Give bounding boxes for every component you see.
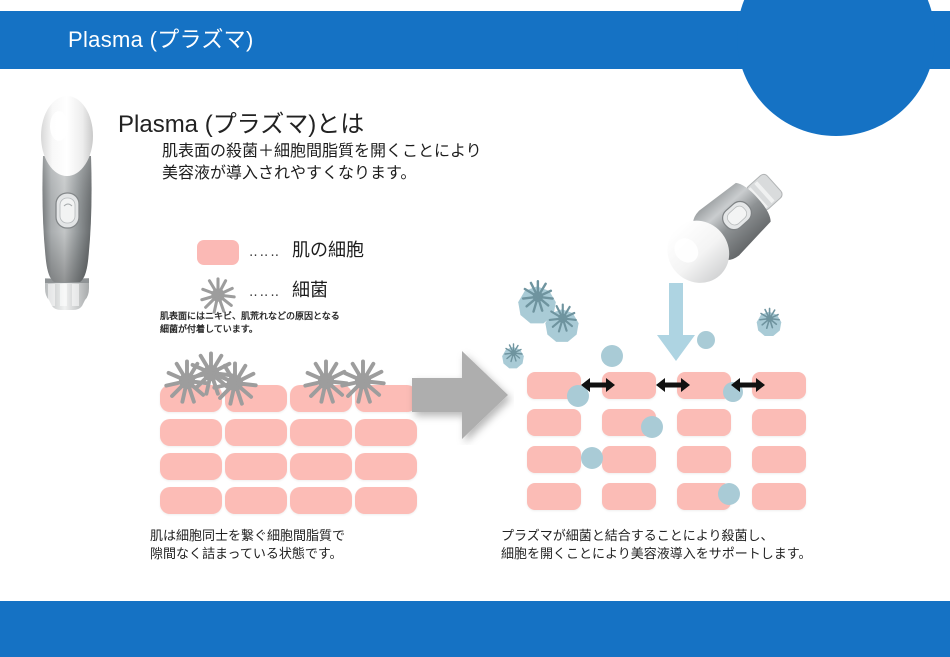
skin-cell <box>527 446 581 473</box>
skin-cell <box>290 453 352 480</box>
skin-cell <box>677 446 731 473</box>
plasma-bound-bacteria-icon <box>498 341 528 371</box>
legend-label-bacteria: 細菌 <box>292 276 328 302</box>
bacteria-star-icon <box>199 276 237 314</box>
plasma-particle <box>601 345 623 367</box>
skin-cell <box>752 483 806 510</box>
header-watermark-text <box>830 58 945 70</box>
skin-cell <box>225 487 287 514</box>
plasma-device-tilted <box>648 158 808 293</box>
cell-gap-double-arrow-icon <box>656 377 690 393</box>
plasma-particle <box>581 447 603 469</box>
slide-canvas: Plasma (プラズマ) <box>0 0 950 657</box>
cell-gap-double-arrow-icon <box>731 377 765 393</box>
skin-cell <box>225 419 287 446</box>
plasma-emission-arrow-icon <box>655 283 697 363</box>
plasma-particle <box>718 483 740 505</box>
legend-dots: ‥‥‥ <box>249 284 281 300</box>
plasma-particle <box>697 331 715 349</box>
skin-cell <box>527 483 581 510</box>
lead-paragraph: 肌表面の殺菌＋細胞間脂質を開くことにより 美容液が導入されやすくなります。 <box>162 141 482 185</box>
caption-right-text: プラズマが細菌と結合することにより殺菌し、 細胞を開くことにより美容液導入をサポ… <box>501 527 811 564</box>
skin-cell <box>160 487 222 514</box>
skin-cell <box>160 419 222 446</box>
bacteria-star-icon <box>212 360 258 406</box>
skin-cell <box>602 446 656 473</box>
plasma-bound-bacteria-icon <box>539 300 585 346</box>
skin-cell <box>290 487 352 514</box>
skin-cell <box>355 453 417 480</box>
page-title: Plasma (プラズマ) <box>68 22 254 54</box>
bacteria-note-text: 肌表面にはニキビ、肌荒れなどの原因となる 細菌が付着しています。 <box>160 310 340 336</box>
skin-cell <box>677 409 731 436</box>
skin-cell <box>602 483 656 510</box>
skin-cell <box>527 409 581 436</box>
caption-left-text: 肌は細胞同士を繋ぐ細胞間脂質で 隙間なく詰まっている状態です。 <box>150 527 345 564</box>
plasma-bound-bacteria-icon <box>752 305 786 339</box>
skin-cell <box>355 487 417 514</box>
skin-cell <box>752 409 806 436</box>
skin-cell <box>160 453 222 480</box>
skin-cell <box>752 446 806 473</box>
legend-dots: ‥‥‥ <box>249 244 281 260</box>
skin-cell <box>290 419 352 446</box>
plasma-device-upright <box>28 96 108 311</box>
bacteria-star-icon <box>340 358 386 404</box>
plasma-particle <box>641 416 663 438</box>
section-heading: Plasma (プラズマ)とは <box>118 104 364 139</box>
skin-cell-swatch-icon <box>197 240 239 265</box>
skin-cell <box>225 453 287 480</box>
legend-label-skin-cell: 肌の細胞 <box>292 236 364 262</box>
footer-watermark-text <box>430 625 520 635</box>
cell-gap-double-arrow-icon <box>581 377 615 393</box>
